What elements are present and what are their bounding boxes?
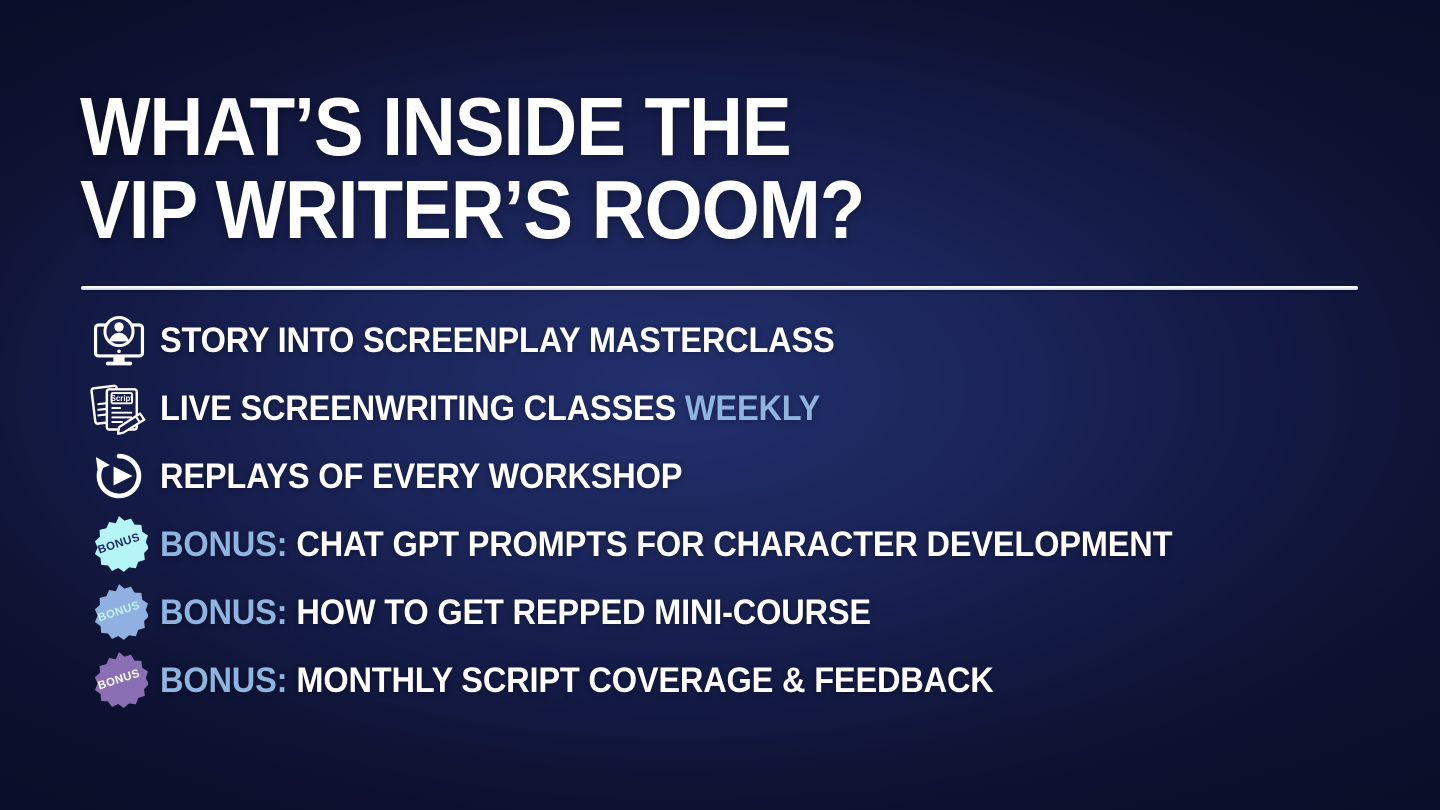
list-item: REPLAYS OF EVERY WORKSHOP xyxy=(78,442,1418,510)
list-item-label: BONUS:MONTHLY SCRIPT COVERAGE & FEEDBACK xyxy=(160,663,994,698)
list-item-label: REPLAYS OF EVERY WORKSHOP xyxy=(160,459,682,494)
webinar-monitor-person-icon xyxy=(78,306,160,374)
list-item-text: REPLAYS OF EVERY WORKSHOP xyxy=(160,457,682,496)
slide-canvas: WHAT’S INSIDE THE VIP WRITER’S ROOM? xyxy=(0,0,1440,810)
list-item: BONUS BONUS:MONTHLY SCRIPT COVERAGE & FE… xyxy=(78,646,1418,714)
list-item-label: LIVE SCREENWRITING CLASSES WEEKLY xyxy=(160,391,820,426)
replay-play-icon xyxy=(78,442,160,510)
list-item-text: CHAT GPT PROMPTS FOR CHARACTER DEVELOPME… xyxy=(296,525,1172,564)
bonus-badge-blue: BONUS xyxy=(90,583,148,641)
list-item: STORY INTO SCREENPLAY MASTERCLASS xyxy=(78,306,1418,374)
bonus-badge-purple: BONUS xyxy=(90,651,148,709)
list-item-highlight: WEEKLY xyxy=(685,389,820,428)
list-item-prefix: BONUS: xyxy=(160,593,287,632)
list-item: Script LIVE SCREENWRITING CLASSES WEEKLY xyxy=(78,374,1418,442)
bonus-badge-cyan: BONUS xyxy=(90,515,148,573)
list-item-prefix: BONUS: xyxy=(160,525,287,564)
list-item-label: STORY INTO SCREENPLAY MASTERCLASS xyxy=(160,323,835,358)
title-divider xyxy=(81,286,1358,290)
page-title: WHAT’S INSIDE THE VIP WRITER’S ROOM? xyxy=(80,88,1370,248)
list-item-text: HOW TO GET REPPED MINI-COURSE xyxy=(296,593,871,632)
title-line-2: VIP WRITER’S ROOM? xyxy=(80,171,1241,248)
bonus-badge-icon: BONUS xyxy=(78,646,160,714)
svg-text:Script: Script xyxy=(111,394,134,403)
list-item: BONUS BONUS:CHAT GPT PROMPTS FOR CHARACT… xyxy=(78,510,1418,578)
list-item-label: BONUS:HOW TO GET REPPED MINI-COURSE xyxy=(160,595,871,630)
list-item-label: BONUS:CHAT GPT PROMPTS FOR CHARACTER DEV… xyxy=(160,527,1172,562)
list-item: BONUS BONUS:HOW TO GET REPPED MINI-COURS… xyxy=(78,578,1418,646)
list-item-prefix: BONUS: xyxy=(160,661,287,700)
feature-list: STORY INTO SCREENPLAY MASTERCLASS Script xyxy=(78,306,1418,714)
script-pages-pen-icon: Script xyxy=(78,374,160,442)
bonus-badge-icon: BONUS xyxy=(78,510,160,578)
list-item-text: STORY INTO SCREENPLAY MASTERCLASS xyxy=(160,321,835,360)
list-item-text: MONTHLY SCRIPT COVERAGE & FEEDBACK xyxy=(296,661,993,700)
bonus-badge-icon: BONUS xyxy=(78,578,160,646)
list-item-text: LIVE SCREENWRITING CLASSES xyxy=(160,389,685,428)
title-line-1: WHAT’S INSIDE THE xyxy=(80,88,1241,165)
